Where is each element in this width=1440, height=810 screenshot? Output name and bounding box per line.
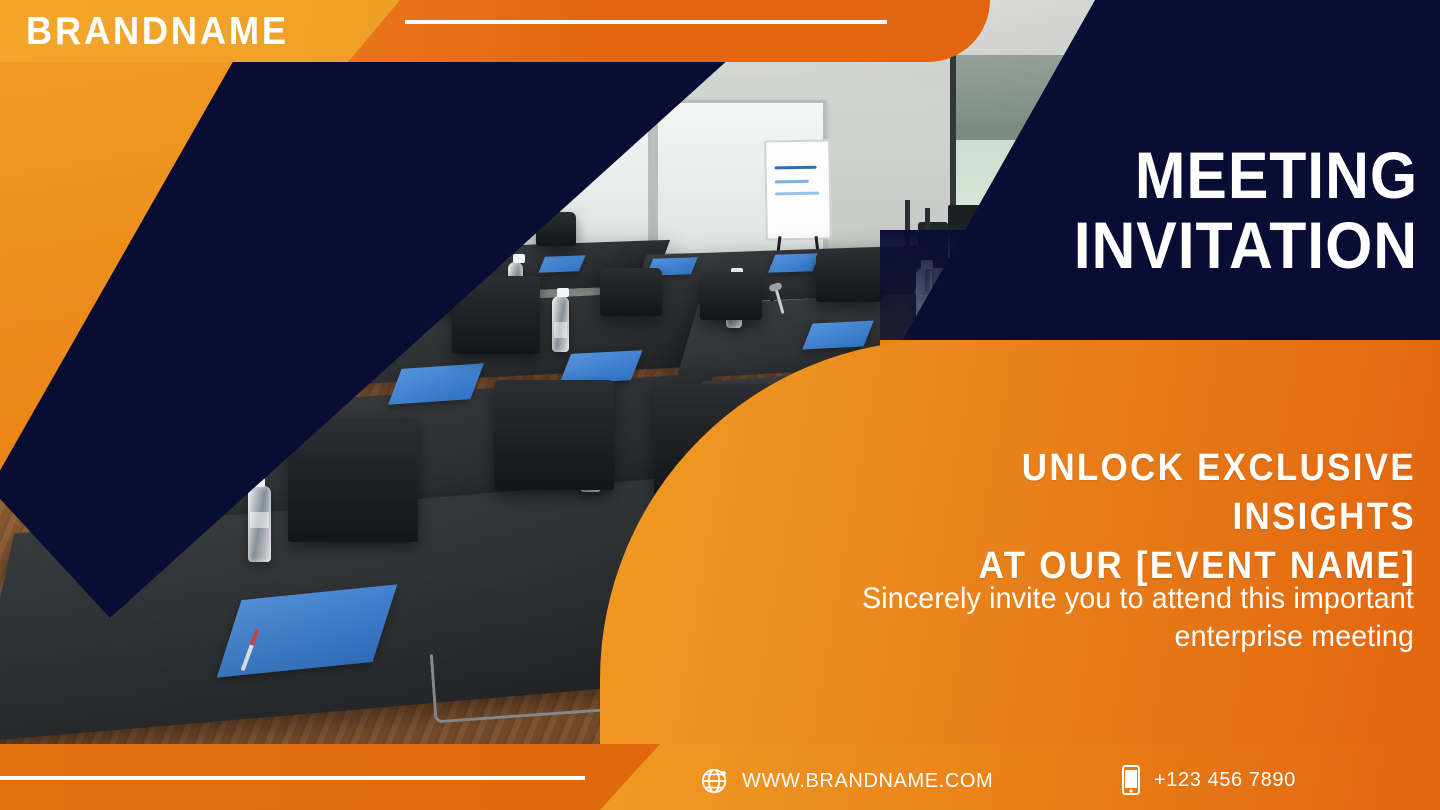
headline-block: UNLOCK EXCLUSIVE INSIGHTS AT OUR [EVENT … (864, 444, 1416, 591)
top-bar-rule (405, 20, 887, 24)
title-block: MEETING INVITATION (938, 140, 1418, 280)
title-line-1: MEETING (976, 140, 1418, 210)
website-contact[interactable]: WWW.BRANDNAME.COM (700, 766, 993, 796)
phone-contact[interactable]: +123 456 7890 (1120, 764, 1296, 796)
meeting-invitation-poster: BRANDNAME MEETING INVITATION UNLOCK EXCL… (0, 0, 1440, 810)
brand-name: BRANDNAME (26, 12, 289, 52)
globe-icon (700, 766, 730, 796)
bottom-bar-rule (0, 776, 585, 780)
website-label: WWW.BRANDNAME.COM (742, 770, 993, 793)
invitation-subtext: Sincerely invite you to attend this impo… (825, 580, 1414, 656)
phone-label: +123 456 7890 (1154, 769, 1296, 792)
smartphone-icon (1120, 764, 1142, 796)
title-line-2: INVITATION (976, 210, 1418, 280)
headline-line-1: UNLOCK EXCLUSIVE INSIGHTS (864, 444, 1416, 542)
